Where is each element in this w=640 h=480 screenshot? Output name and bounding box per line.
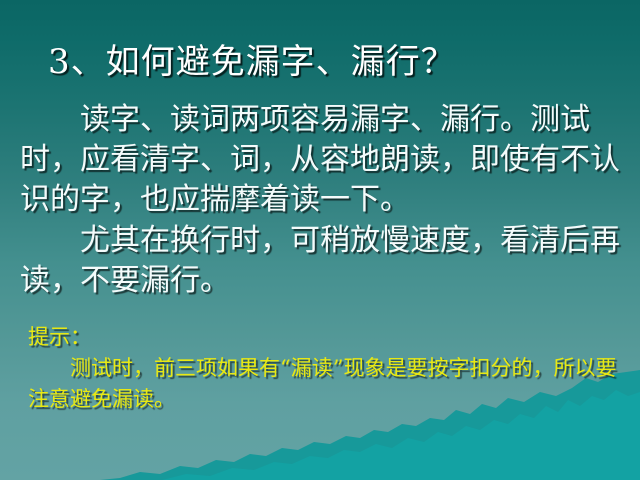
slide-body: 读字、读词两项容易漏字、漏行。测试时，应看清字、词，从容地朗读，即使有不认识的字… (20, 100, 632, 301)
body-paragraph-1: 读字、读词两项容易漏字、漏行。测试时，应看清字、词，从容地朗读，即使有不认识的字… (20, 100, 632, 220)
hint-label: 提示： (28, 322, 628, 353)
presentation-slide: 3、如何避免漏字、漏行？ 读字、读词两项容易漏字、漏行。测试时，应看清字、词，从… (0, 0, 640, 480)
slide-hint-note: 提示： 测试时，前三项如果有“漏读”现象是要按字扣分的，所以要注意避免漏读。 (28, 322, 628, 415)
body-paragraph-2: 尤其在换行时，可稍放慢速度，看清后再读，不要漏行。 (20, 221, 632, 301)
slide-title: 3、如何避免漏字、漏行？ (48, 40, 608, 84)
hint-paragraph: 测试时，前三项如果有“漏读”现象是要按字扣分的，所以要注意避免漏读。 (28, 353, 628, 415)
